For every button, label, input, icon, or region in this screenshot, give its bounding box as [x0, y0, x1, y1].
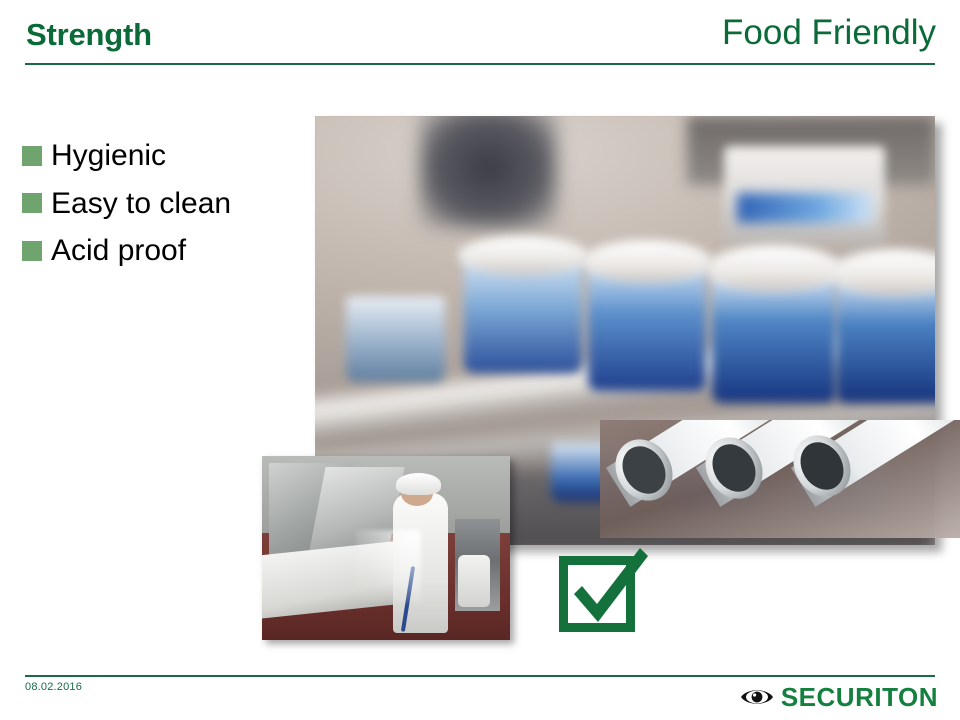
list-item: Hygienic	[22, 140, 292, 172]
steel-tubes-photo	[600, 420, 960, 650]
cleaning-photo	[262, 456, 510, 640]
list-item: Easy to clean	[22, 188, 292, 220]
slide: Strength Food Friendly Hygienic Easy to …	[0, 0, 960, 720]
slide-date: 08.02.2016	[25, 681, 82, 693]
steel-tubes-artwork	[600, 420, 960, 650]
square-bullet-icon	[22, 146, 42, 166]
bullet-label: Hygienic	[51, 140, 166, 172]
checkbox-outline-icon	[559, 556, 635, 632]
bullet-label: Easy to clean	[51, 188, 231, 220]
conveyor-photo-cup-lid	[706, 245, 842, 292]
eye-icon	[740, 686, 774, 708]
conveyor-photo-background-tub-label	[737, 193, 873, 223]
cleaning-photo-water-spray	[356, 530, 420, 604]
slide-subtitle: Food Friendly	[722, 13, 936, 53]
header-divider	[25, 63, 935, 65]
page-title: Strength	[26, 17, 152, 53]
square-bullet-icon	[22, 241, 42, 261]
footer-divider	[25, 675, 935, 677]
list-item: Acid proof	[22, 235, 292, 267]
conveyor-photo-cup-lid	[582, 240, 712, 283]
cleaning-photo-worker-helmet	[396, 473, 441, 495]
securiton-logo: SECURITON	[740, 684, 938, 710]
conveyor-photo-yogurt-cup	[346, 296, 445, 382]
cleaning-photo-foam-tank	[458, 555, 490, 607]
bullet-label: Acid proof	[51, 235, 186, 267]
conveyor-photo-cup-lid	[458, 236, 588, 275]
bullet-list: Hygienic Easy to clean Acid proof	[22, 140, 292, 283]
conveyor-photo-machine-panel	[420, 116, 556, 228]
square-bullet-icon	[22, 193, 42, 213]
securiton-logo-text: SECURITON	[781, 684, 938, 710]
